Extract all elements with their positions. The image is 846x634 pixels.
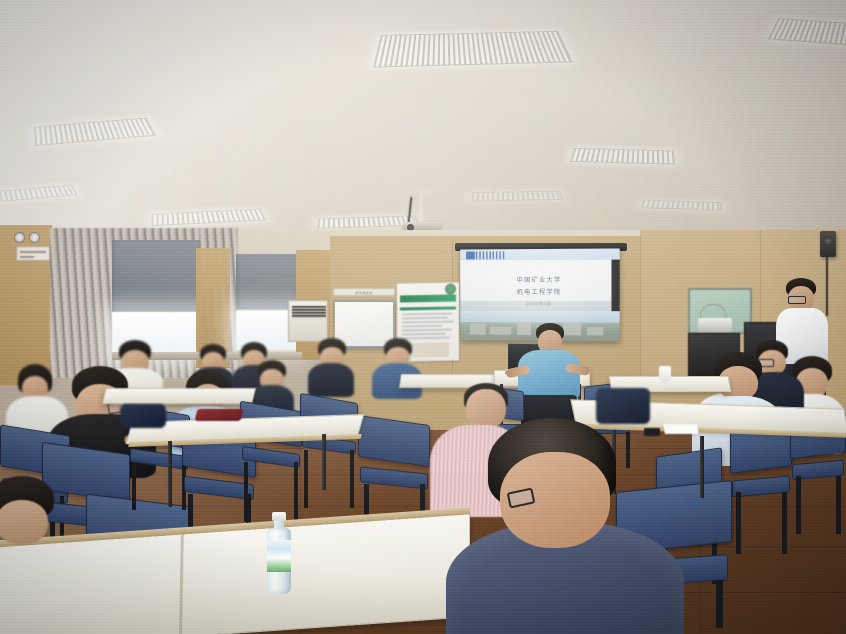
table-back-left bbox=[102, 388, 256, 404]
projector-pole bbox=[419, 193, 423, 225]
red-folder bbox=[195, 409, 244, 421]
wall-speaker bbox=[820, 231, 836, 257]
classroom-photo: 中国矿业大学 机电工程学院 2019年5月 学术报告会 bbox=[0, 0, 846, 634]
attendee-rear-blue-shirt bbox=[372, 338, 422, 398]
table-mid-left-leg-1 bbox=[168, 441, 172, 507]
foreground-attendee bbox=[456, 418, 671, 634]
slide-content: 中国矿业大学 机电工程学院 2019年5月 bbox=[460, 249, 611, 334]
banner-logo-icon bbox=[445, 284, 456, 295]
window-blind-1[interactable] bbox=[112, 240, 202, 312]
bottle-label bbox=[267, 540, 291, 572]
wall-air-conditioner bbox=[288, 300, 328, 342]
emergency-exit-light bbox=[14, 232, 42, 244]
banner-header-bar bbox=[400, 295, 456, 303]
ceiling-shading bbox=[0, 0, 846, 258]
table-mid-left-leg-2 bbox=[322, 434, 326, 490]
water-bottle[interactable] bbox=[266, 512, 292, 594]
whiteboard-header-strip: 学术报告会 bbox=[333, 288, 395, 296]
paper-cup[interactable] bbox=[659, 366, 671, 382]
presenter bbox=[518, 323, 580, 433]
banner-subheader-bar bbox=[400, 307, 456, 311]
wall-sign bbox=[16, 246, 50, 261]
standing-attendee-glasses bbox=[788, 296, 806, 304]
whiteboard-header-text: 学术报告会 bbox=[334, 289, 394, 297]
attendee-rear-dark-3 bbox=[308, 338, 354, 396]
table-center-leg-2 bbox=[700, 436, 704, 498]
backpack-left bbox=[120, 404, 166, 428]
slide-projector-glow bbox=[460, 249, 611, 334]
cabinet-top-equipment bbox=[698, 318, 732, 332]
foreground-left-partial-head bbox=[0, 476, 60, 546]
